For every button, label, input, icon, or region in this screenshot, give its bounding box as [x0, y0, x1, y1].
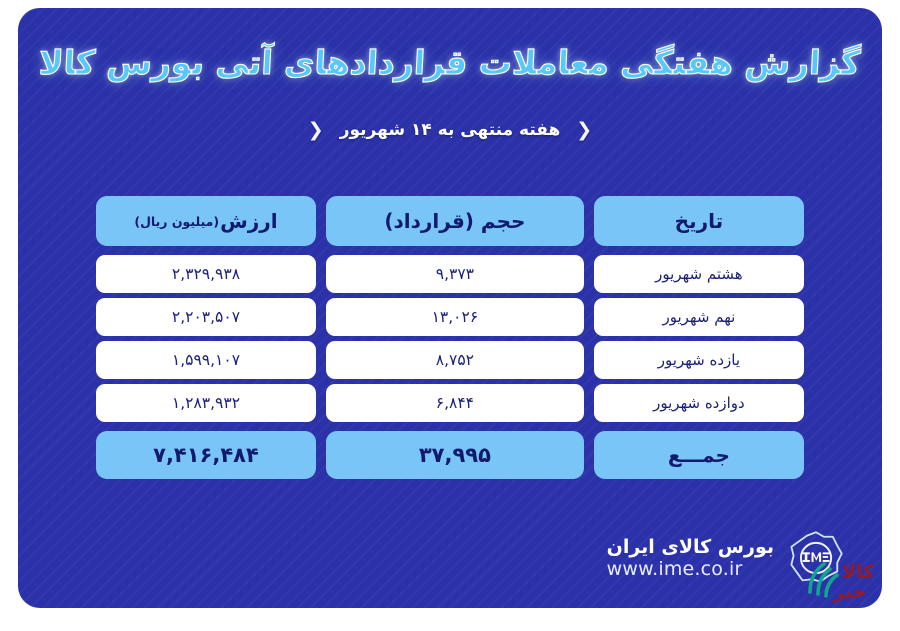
poster-root: گزارش هفتگی معاملات قراردادهای آتی بورس …	[0, 0, 900, 631]
cell-date: یازده شهریور	[594, 341, 804, 379]
cell-value: ۱,۲۸۳,۹۳۲	[96, 384, 316, 422]
data-table: تاریخ حجم (قرارداد) ارزش(میلیون ریال) هش…	[18, 196, 882, 479]
cell-date: هشتم شهریور	[594, 255, 804, 293]
column-header-value: ارزش(میلیون ریال)	[96, 196, 316, 246]
infographic-card: گزارش هفتگی معاملات قراردادهای آتی بورس …	[18, 8, 882, 608]
table-row: هشتم شهریور ۹,۳۷۳ ۲,۳۲۹,۹۳۸	[96, 255, 804, 293]
title-block: گزارش هفتگی معاملات قراردادهای آتی بورس …	[18, 42, 882, 83]
cell-value: ۱,۵۹۹,۱۰۷	[96, 341, 316, 379]
cell-volume: ۹,۳۷۳	[326, 255, 584, 293]
cell-date: نهم شهریور	[594, 298, 804, 336]
table-row: دوازده شهریور ۶,۸۴۴ ۱,۲۸۳,۹۳۲	[96, 384, 804, 422]
subtitle-text: هفته منتهی به ۱۴ شهریور	[340, 120, 561, 140]
column-header-volume: حجم (قرارداد)	[326, 196, 584, 246]
subtitle-block: ❮ هفته منتهی به ۱۴ شهریور ❮	[18, 120, 882, 140]
table-row: یازده شهریور ۸,۷۵۲ ۱,۵۹۹,۱۰۷	[96, 341, 804, 379]
total-value: ۷,۴۱۶,۴۸۴	[96, 431, 316, 479]
footer: بورس کالای ایران www.ime.co.ir	[18, 530, 882, 586]
chevron-right-icon: ❮	[308, 121, 324, 140]
cell-date: دوازده شهریور	[594, 384, 804, 422]
column-header-value-main: ارزش	[220, 209, 277, 233]
organization-name: بورس کالای ایران	[607, 536, 774, 558]
total-label: جمـــع	[594, 431, 804, 479]
total-volume: ۳۷,۹۹۵	[326, 431, 584, 479]
ime-logo-icon	[788, 530, 844, 586]
cell-value: ۲,۳۲۹,۹۳۸	[96, 255, 316, 293]
cell-volume: ۸,۷۵۲	[326, 341, 584, 379]
cell-volume: ۱۳,۰۲۶	[326, 298, 584, 336]
page-title: گزارش هفتگی معاملات قراردادهای آتی بورس …	[38, 42, 861, 83]
column-header-value-unit: (میلیون ریال)	[134, 214, 219, 229]
table-header-row: تاریخ حجم (قرارداد) ارزش(میلیون ریال)	[96, 196, 804, 246]
website-url[interactable]: www.ime.co.ir	[607, 558, 743, 580]
column-header-date: تاریخ	[594, 196, 804, 246]
footer-text-block: بورس کالای ایران www.ime.co.ir	[607, 536, 774, 581]
table-total-row: جمـــع ۳۷,۹۹۵ ۷,۴۱۶,۴۸۴	[96, 431, 804, 479]
cell-value: ۲,۲۰۳,۵۰۷	[96, 298, 316, 336]
chevron-left-icon: ❮	[576, 121, 592, 140]
table-row: نهم شهریور ۱۳,۰۲۶ ۲,۲۰۳,۵۰۷	[96, 298, 804, 336]
cell-volume: ۶,۸۴۴	[326, 384, 584, 422]
